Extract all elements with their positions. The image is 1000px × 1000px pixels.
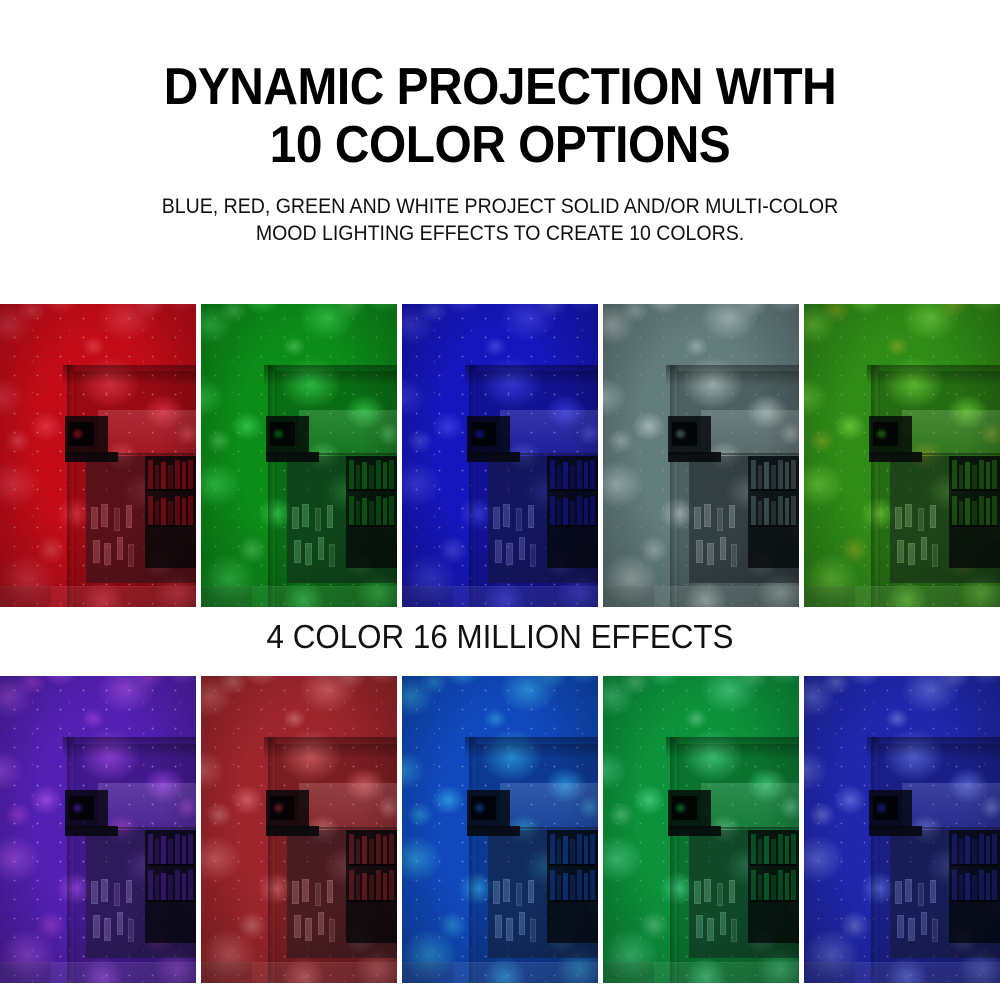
mid-caption: 4 COLOR 16 MILLION EFFECTS bbox=[25, 618, 975, 656]
room-scene bbox=[201, 676, 397, 983]
room-scene bbox=[402, 676, 598, 983]
vignette bbox=[0, 676, 196, 983]
projection-photo-green bbox=[201, 304, 397, 607]
room-scene bbox=[0, 304, 196, 607]
projection-photo-purple-magenta bbox=[0, 676, 196, 983]
product-banner: DYNAMIC PROJECTION WITH 10 COLOR OPTIONS… bbox=[0, 0, 1000, 1000]
room-scene bbox=[804, 304, 1000, 607]
projection-photo-blue-white bbox=[804, 676, 1000, 983]
vignette bbox=[201, 676, 397, 983]
room-scene bbox=[603, 304, 799, 607]
projection-photo-green-white bbox=[603, 676, 799, 983]
vignette bbox=[0, 304, 196, 607]
room-scene bbox=[0, 676, 196, 983]
vignette bbox=[603, 676, 799, 983]
room-scene bbox=[201, 304, 397, 607]
projection-photo-green-orange bbox=[804, 304, 1000, 607]
room-scene bbox=[603, 676, 799, 983]
room-scene bbox=[804, 676, 1000, 983]
projection-photo-blue bbox=[402, 304, 598, 607]
projection-photo-red bbox=[0, 304, 196, 607]
projection-photo-white bbox=[603, 304, 799, 607]
subtitle-line-1: BLUE, RED, GREEN AND WHITE PROJECT SOLID… bbox=[35, 193, 965, 220]
vignette bbox=[804, 304, 1000, 607]
vignette bbox=[804, 676, 1000, 983]
vignette bbox=[402, 304, 598, 607]
projection-photo-red-white bbox=[201, 676, 397, 983]
headline-line-2: 10 COLOR OPTIONS bbox=[40, 116, 960, 174]
projection-photo-blue-cyan bbox=[402, 676, 598, 983]
subtitle-line-2: MOOD LIGHTING EFFECTS TO CREATE 10 COLOR… bbox=[35, 220, 965, 247]
page-title: DYNAMIC PROJECTION WITH 10 COLOR OPTIONS bbox=[40, 0, 960, 174]
vignette bbox=[201, 304, 397, 607]
gallery-row-top bbox=[0, 304, 1000, 607]
gallery-row-bottom bbox=[0, 676, 1000, 983]
vignette bbox=[603, 304, 799, 607]
room-scene bbox=[402, 304, 598, 607]
subtitle: BLUE, RED, GREEN AND WHITE PROJECT SOLID… bbox=[35, 174, 965, 247]
vignette bbox=[402, 676, 598, 983]
headline-line-1: DYNAMIC PROJECTION WITH bbox=[40, 58, 960, 116]
